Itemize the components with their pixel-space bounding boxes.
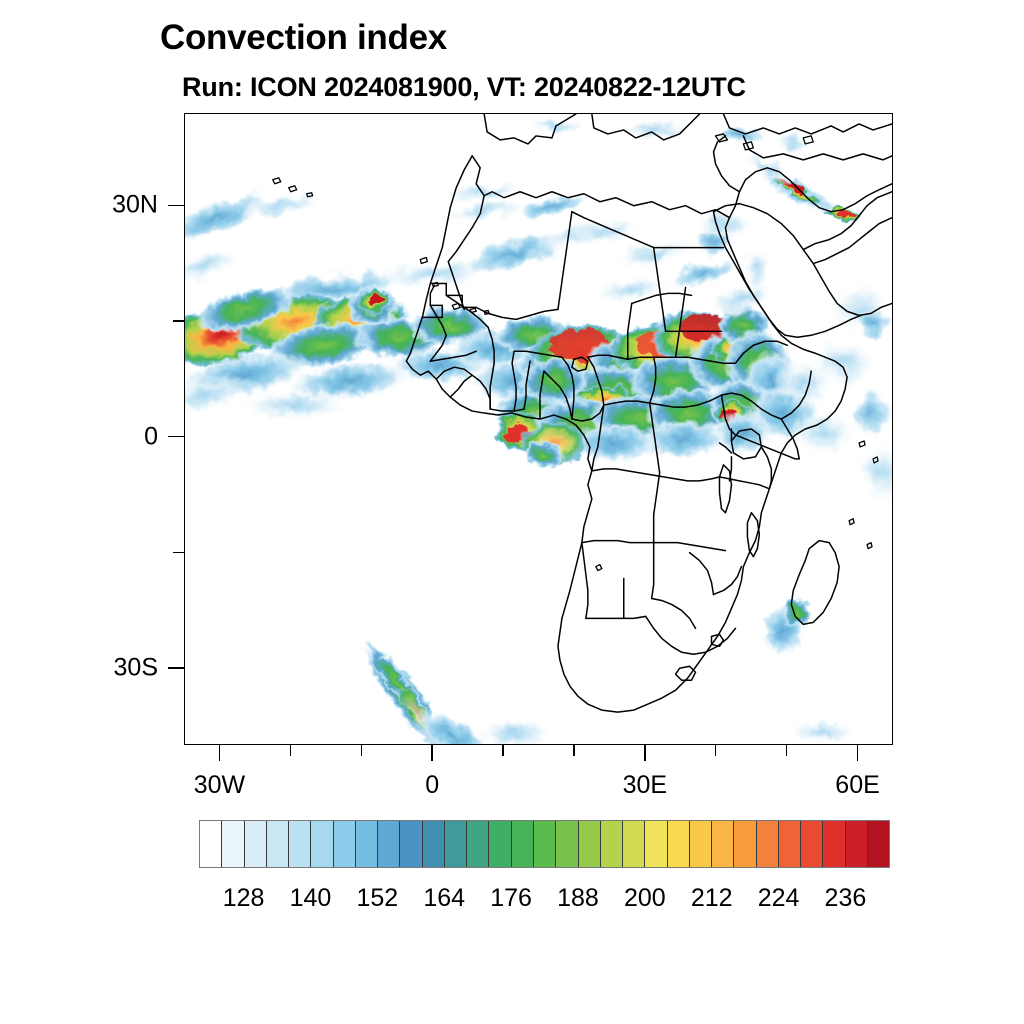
colorbar-cell: [556, 821, 578, 867]
y-axis-tick: [173, 320, 184, 321]
colorbar-tick-label: 236: [825, 884, 867, 913]
colorbar[interactable]: [199, 820, 890, 868]
colorbar-tick-label: 200: [624, 884, 666, 913]
y-axis-tick: [173, 552, 184, 553]
page-title: Convection index: [160, 18, 447, 58]
colorbar-tick-label: 152: [356, 884, 398, 913]
x-axis-tick: [219, 745, 220, 761]
x-axis-label: 30W: [194, 771, 245, 800]
x-axis-label: 0: [425, 771, 439, 800]
convection-field: [185, 118, 892, 744]
y-axis-tick: [168, 667, 184, 668]
x-axis-label: 60E: [835, 771, 879, 800]
colorbar-tick-label: 212: [691, 884, 733, 913]
colorbar-cell: [734, 821, 756, 867]
map-plot-area[interactable]: [184, 113, 893, 745]
colorbar-cell: [289, 821, 311, 867]
y-axis-label: 0: [0, 422, 158, 451]
colorbar-cell: [868, 821, 889, 867]
colorbar-cell: [356, 821, 378, 867]
run-valid-time-subtitle: Run: ICON 2024081900, VT: 20240822-12UTC: [182, 72, 746, 103]
x-axis-tick: [644, 745, 645, 761]
y-axis-tick: [168, 205, 184, 206]
colorbar-cell: [623, 821, 645, 867]
colorbar-cell: [823, 821, 845, 867]
colorbar-cell: [712, 821, 734, 867]
colorbar-tick-label: 140: [290, 884, 332, 913]
x-axis-tick: [573, 745, 574, 756]
colorbar-cell: [445, 821, 467, 867]
colorbar-cell: [579, 821, 601, 867]
colorbar-cell: [512, 821, 534, 867]
colorbar-cell: [534, 821, 556, 867]
colorbar-cell: [267, 821, 289, 867]
colorbar-cell: [400, 821, 422, 867]
colorbar-cell: [222, 821, 244, 867]
colorbar-tick-label: 164: [423, 884, 465, 913]
colorbar-cell: [601, 821, 623, 867]
colorbar-cell: [200, 821, 222, 867]
colorbar-cell: [690, 821, 712, 867]
colorbar-cell: [245, 821, 267, 867]
colorbar-cell: [779, 821, 801, 867]
colorbar-tick-label: 128: [223, 884, 265, 913]
colorbar-cell: [757, 821, 779, 867]
colorbar-cell: [801, 821, 823, 867]
x-axis-tick: [431, 745, 432, 761]
x-axis-tick: [290, 745, 291, 756]
y-axis-label: 30N: [0, 191, 158, 220]
x-axis-tick: [857, 745, 858, 761]
colorbar-cell: [334, 821, 356, 867]
colorbar-cell: [489, 821, 511, 867]
colorbar-tick-label: 224: [758, 884, 800, 913]
colorbar-cell: [467, 821, 489, 867]
colorbar-cell: [846, 821, 868, 867]
y-axis-tick: [168, 436, 184, 437]
colorbar-cell: [378, 821, 400, 867]
colorbar-tick-label: 188: [557, 884, 599, 913]
x-axis-label: 30E: [623, 771, 667, 800]
x-axis-tick: [715, 745, 716, 756]
x-axis-tick: [786, 745, 787, 756]
x-axis-tick: [502, 745, 503, 756]
x-axis-tick: [361, 745, 362, 756]
colorbar-tick-label: 176: [490, 884, 532, 913]
y-axis-label: 30S: [0, 653, 158, 682]
colorbar-cell: [311, 821, 333, 867]
colorbar-cell: [423, 821, 445, 867]
colorbar-cell: [645, 821, 667, 867]
colorbar-cell: [668, 821, 690, 867]
africa-convection-map: [185, 114, 892, 744]
